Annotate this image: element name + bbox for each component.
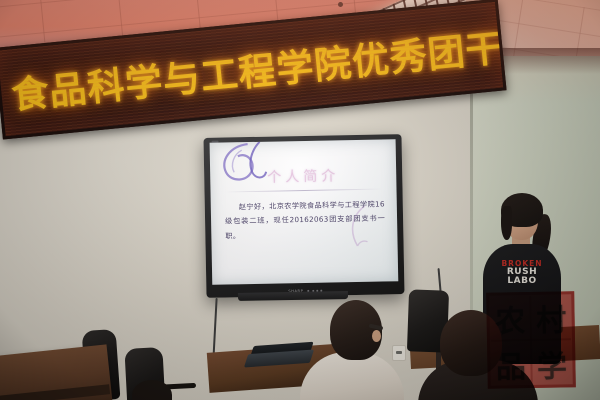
tshirt-text-line2: LABO [491, 277, 553, 286]
red-seal-watermark: 农 村 品 学 [486, 291, 576, 389]
classroom-photo: 食品科学与工程学院优秀团干部答辩 个人简介 赵宁好，北京农学院食品科学与工程学院… [0, 0, 600, 400]
tshirt-graphic-text: BROKEN RUSH LABO [491, 260, 553, 287]
seal-character: 品 [491, 342, 531, 387]
slide-body-text: 赵宁好，北京农学院食品科学与工程学院16级包装二班，现任20162063团支部团… [225, 197, 386, 243]
slide-divider [225, 188, 383, 192]
seal-character: 村 [531, 295, 571, 340]
audience-center-ear [372, 330, 381, 342]
slide-title: 个人简介 [210, 164, 396, 188]
ceiling-hook [338, 2, 343, 7]
interactive-flat-panel[interactable]: 个人简介 赵宁好，北京农学院食品科学与工程学院16级包装二班，现任2016206… [203, 134, 404, 298]
presenter-hair-side [501, 206, 512, 240]
display-screen: 个人简介 赵宁好，北京农学院食品科学与工程学院16级包装二班，现任2016206… [210, 139, 399, 285]
outlet-socket-icon [396, 351, 402, 354]
wall-power-outlet [392, 345, 406, 361]
seal-character: 农 [490, 296, 530, 341]
seal-character: 学 [532, 341, 572, 386]
